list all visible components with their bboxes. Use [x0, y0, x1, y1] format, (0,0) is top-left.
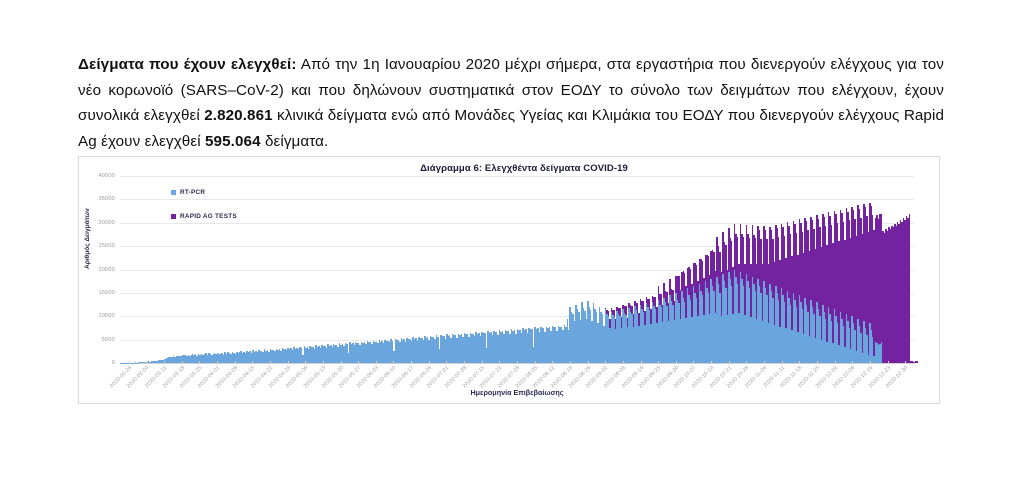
- x-axis-tick-mark: [870, 361, 871, 364]
- x-axis-tick-mark: [217, 361, 218, 364]
- y-axis-tick-label: 25000: [98, 243, 115, 249]
- x-axis-tick-mark: [905, 361, 906, 364]
- x-axis-tick-mark: [252, 361, 253, 364]
- x-axis-title: Ημερομηνία Επιβεβαίωσης: [120, 388, 914, 397]
- x-axis-tick-mark: [658, 361, 659, 364]
- legend-label-rapid-ag: RAPID AG TESTS: [180, 213, 237, 220]
- chart-legend: RT-PCR RAPID AG TESTS: [171, 189, 237, 237]
- x-axis-tick-mark: [588, 361, 589, 364]
- x-axis-tick-mark: [835, 361, 836, 364]
- intro-lead: Δείγματα που έχουν ελεγχθεί:: [78, 56, 297, 73]
- x-axis-tick-mark: [429, 361, 430, 364]
- x-axis-tick-mark: [764, 361, 765, 364]
- plot-area: 0500010000150002000025000300003500040000: [120, 176, 914, 363]
- x-axis-tick-mark: [129, 361, 130, 364]
- x-axis-tick-mark: [411, 361, 412, 364]
- legend-swatch-rt-pcr-icon: [171, 190, 176, 195]
- chart-panel: Διάγραμμα 6: Ελεγχθέντα δείγματα COVID-1…: [78, 156, 940, 404]
- x-axis-tick-mark: [288, 361, 289, 364]
- x-axis-tick-mark: [817, 361, 818, 364]
- legend-item-rt-pcr: RT-PCR: [171, 189, 237, 196]
- x-axis-tick-mark: [341, 361, 342, 364]
- intro-paragraph: Δείγματα που έχουν ελεγχθεί: Από την 1η …: [78, 52, 944, 154]
- x-axis-tick-mark: [499, 361, 500, 364]
- y-axis-tick-label: 40000: [98, 173, 115, 179]
- x-axis-tick-mark: [323, 361, 324, 364]
- y-axis-tick-label: 10000: [98, 313, 115, 319]
- y-axis-tick-label: 5000: [102, 337, 115, 343]
- x-axis-tick-mark: [199, 361, 200, 364]
- y-axis-tick-label: 35000: [98, 196, 115, 202]
- bar-series-container: [120, 176, 914, 363]
- document-page: Δείγματα που έχουν ελεγχθεί: Από την 1η …: [0, 0, 1035, 495]
- legend-label-rt-pcr: RT-PCR: [180, 189, 205, 196]
- y-axis-tick-label: 15000: [98, 290, 115, 296]
- x-axis-tick-mark: [729, 361, 730, 364]
- x-axis-tick-mark: [182, 361, 183, 364]
- bar-segment-rapid-ag: [916, 361, 917, 363]
- legend-item-rapid-ag: RAPID AG TESTS: [171, 213, 237, 220]
- x-axis-tick-mark: [393, 361, 394, 364]
- x-axis-tick-mark: [711, 361, 712, 364]
- x-axis-tick-mark: [446, 361, 447, 364]
- legend-swatch-rapid-ag-icon: [171, 214, 176, 219]
- x-axis-tick-mark: [517, 361, 518, 364]
- y-axis-title: Αριθμός Δειγμάτων: [84, 208, 91, 269]
- x-axis-tick-mark: [641, 361, 642, 364]
- x-axis-tick-mark: [305, 361, 306, 364]
- x-axis-tick-mark: [535, 361, 536, 364]
- x-axis-tick-mark: [164, 361, 165, 364]
- y-axis-tick-label: 0: [112, 360, 115, 366]
- rapid-samples-total: 595.064: [205, 133, 261, 150]
- x-axis-tick-mark: [693, 361, 694, 364]
- y-axis-tick-label: 30000: [98, 220, 115, 226]
- x-axis-tick-mark: [552, 361, 553, 364]
- chart-title: Διάγραμμα 6: Ελεγχθέντα δείγματα COVID-1…: [79, 163, 939, 174]
- x-axis-tick-mark: [146, 361, 147, 364]
- x-axis-tick-mark: [482, 361, 483, 364]
- bar-column: [916, 176, 917, 363]
- x-axis-tick-mark: [799, 361, 800, 364]
- x-axis-tick-mark: [358, 361, 359, 364]
- clinical-samples-total: 2.820.861: [204, 107, 272, 124]
- x-axis-tick-mark: [782, 361, 783, 364]
- x-axis-tick-mark: [623, 361, 624, 364]
- x-axis-tick-mark: [270, 361, 271, 364]
- x-axis-tick-mark: [464, 361, 465, 364]
- intro-text-part3: δείγματα.: [261, 133, 329, 150]
- x-axis-tick-mark: [605, 361, 606, 364]
- x-axis-tick-mark: [235, 361, 236, 364]
- x-axis-tick-mark: [570, 361, 571, 364]
- x-axis-tick-mark: [746, 361, 747, 364]
- x-axis-tick-mark: [852, 361, 853, 364]
- x-axis-tick-mark: [888, 361, 889, 364]
- x-axis-tick-mark: [676, 361, 677, 364]
- x-axis-tick-mark: [376, 361, 377, 364]
- y-axis-tick-label: 20000: [98, 267, 115, 273]
